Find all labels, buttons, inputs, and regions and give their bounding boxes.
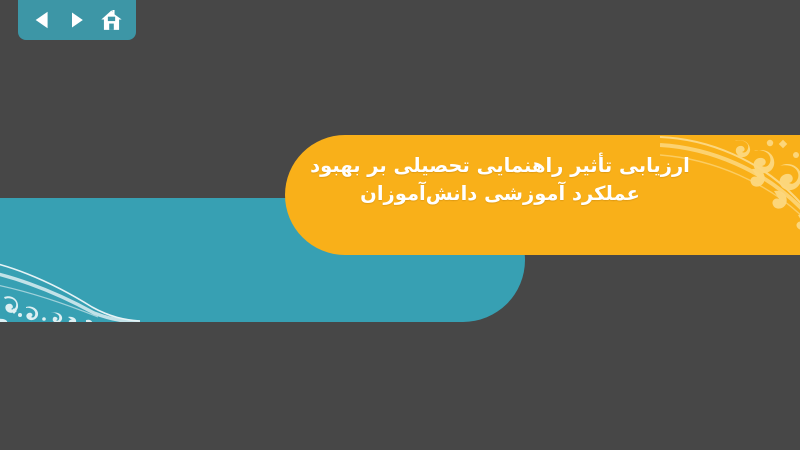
navigation-bar bbox=[18, 0, 136, 40]
triangle-right-icon bbox=[67, 10, 87, 30]
home-icon bbox=[100, 9, 123, 32]
triangle-left-icon bbox=[32, 9, 54, 31]
slide-title-line-2: عملکرد آموزشی دانش‌آموزان bbox=[300, 180, 700, 208]
slide-canvas: ارزیابی تأثیر راهنمایی تحصیلی بر بهبود ع… bbox=[0, 0, 800, 450]
slide-title-line-1: ارزیابی تأثیر راهنمایی تحصیلی بر بهبود bbox=[300, 152, 700, 180]
teal-arabesque-ornament-icon bbox=[0, 227, 140, 322]
slide-title: ارزیابی تأثیر راهنمایی تحصیلی بر بهبود ع… bbox=[300, 152, 700, 209]
forward-button[interactable] bbox=[63, 7, 91, 33]
home-button[interactable] bbox=[97, 7, 125, 33]
back-button[interactable] bbox=[29, 7, 57, 33]
